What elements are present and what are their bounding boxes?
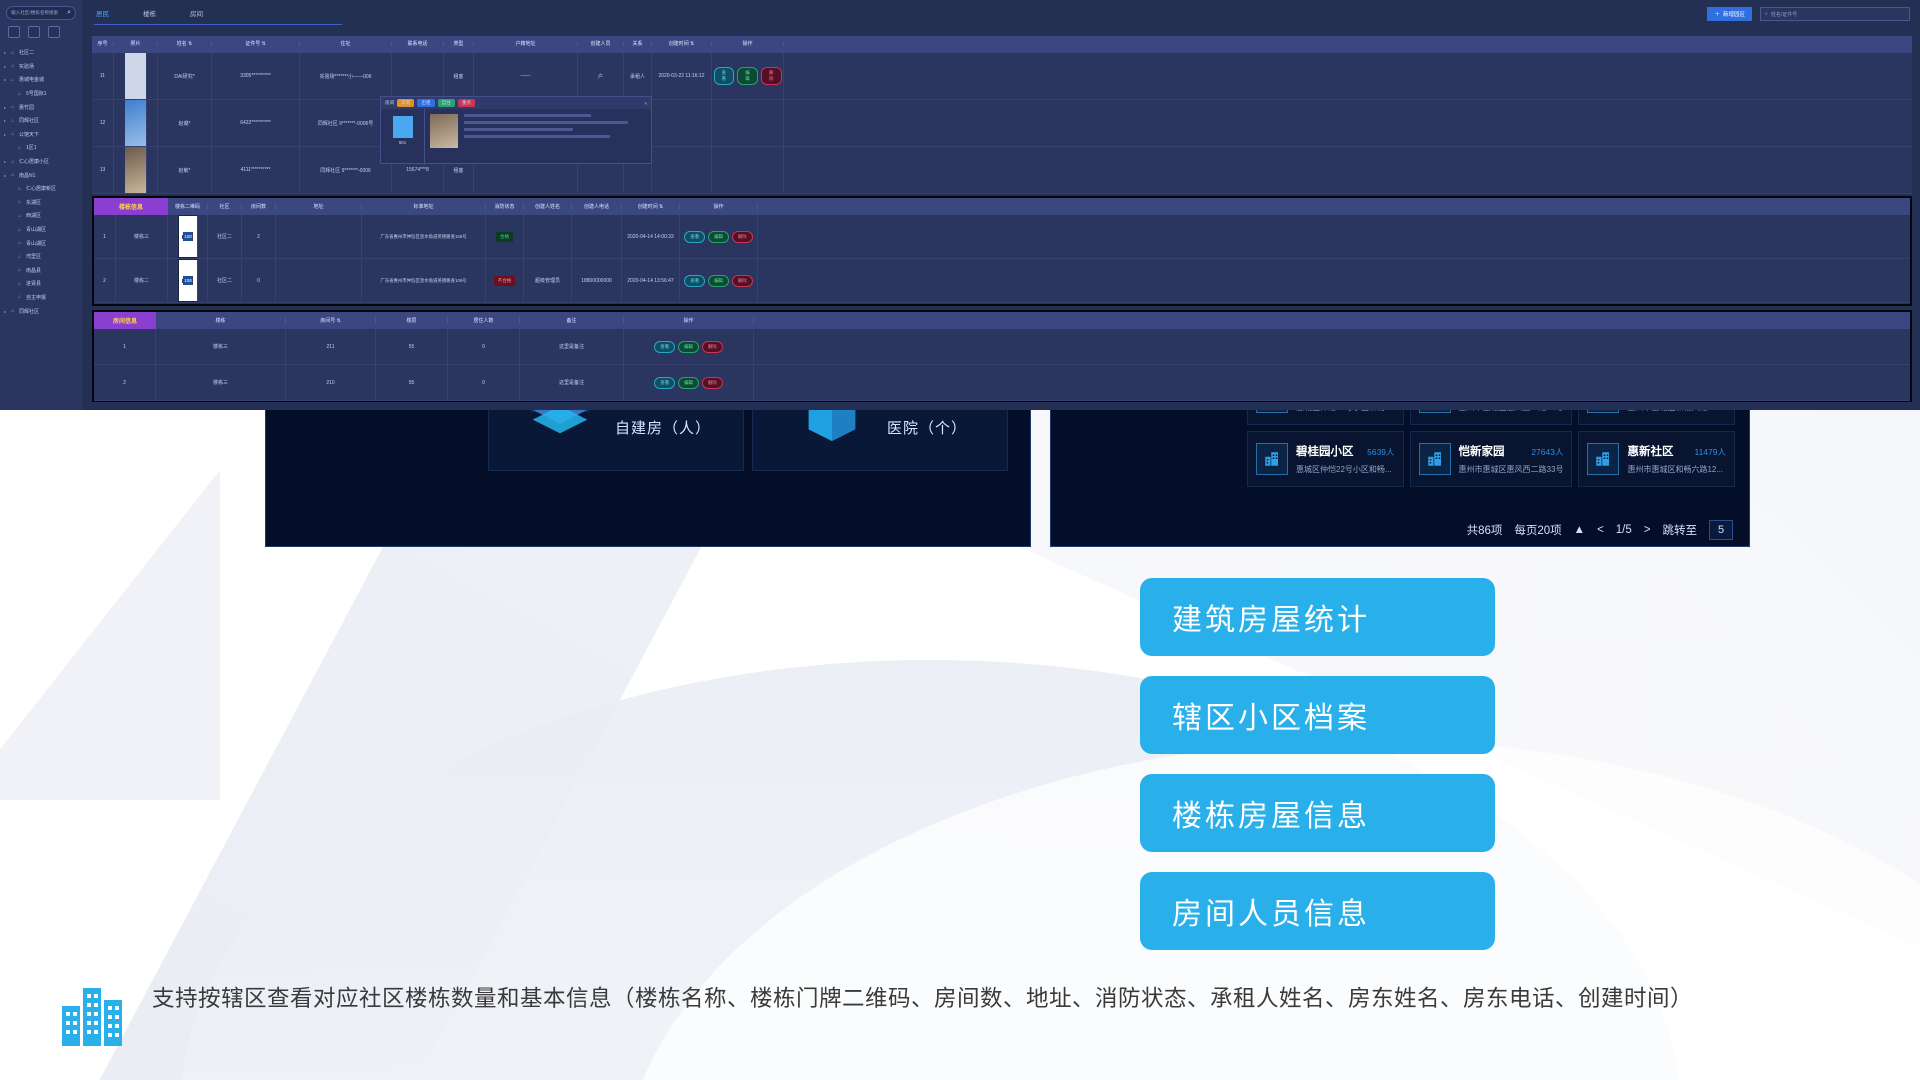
shot-tree-node[interactable]: ⌂湾里区 — [4, 250, 82, 264]
building-table-header: 楼栋信息楼栋二维码社区房间数地址标准地址消防状态创建人姓名创建人电话创建时间 ⇅… — [94, 198, 1910, 215]
people-col-header: 创建人员 — [578, 42, 624, 47]
building-icon — [1263, 450, 1281, 468]
building-col-header: 标准地址 — [362, 203, 486, 210]
community-address: 惠州市惠城区和畅六路12... — [1627, 464, 1726, 475]
community-icon: ⌂ — [18, 186, 26, 192]
table-cell: —— — [474, 53, 578, 99]
popup-person-fields — [464, 114, 646, 160]
popup-close-icon[interactable]: × — [644, 101, 647, 106]
shot-sidebar: 输入社区/楼栋名称搜索 ⌕ ▸⌂社区二▸⌂实验场▸⌂惠城电金城⌂5号国际1▸⌂惠… — [0, 0, 82, 410]
shot-tree-node[interactable]: ▸⌂社区二 — [4, 46, 82, 60]
table-cell: 同辉社区 9*******-0006号 — [300, 100, 392, 146]
community-icon: ⌂ — [18, 267, 26, 273]
people-col-header: 序号 — [92, 42, 114, 47]
shot-tree-node[interactable]: ▸⌂公馆天下 — [4, 128, 82, 142]
building-table-body: 1楼栋三108社区二2广东省惠州市仲恺区沥水角道英德路查109号合格2020-0… — [94, 215, 1910, 303]
table-cell — [712, 147, 784, 193]
footer-text: 支持按辖区查看对应社区楼栋数量和基本信息（楼栋名称、楼栋门牌二维码、房间数、地址… — [152, 980, 1693, 1046]
people-col-header: 操作 — [712, 42, 784, 47]
table-cell: 租客 — [444, 53, 474, 99]
shot-tree-label: 青山湖区 — [26, 226, 46, 233]
community-icon: ⌂ — [18, 145, 26, 151]
search-icon: ⌕ — [67, 9, 71, 17]
community-icon: ⌂ — [18, 294, 26, 300]
shot-tree-label: 仁心居康小区 — [19, 158, 49, 165]
room-col-header: 房间号 ⇅ — [286, 317, 376, 324]
table-cell: 承租人 — [624, 53, 652, 99]
community-population: 27643人 — [1531, 446, 1563, 458]
table-row[interactable]: 13赵敏*4111**********同辉社区 9*******-0006156… — [92, 147, 1912, 194]
room-col-header: 操作 — [624, 317, 754, 324]
table-row[interactable]: 11DAI研究*3305**********实验场*******小——006租客… — [92, 53, 1912, 100]
shot-tree-label: 进贤县 — [26, 280, 41, 287]
shot-tree-node[interactable]: ⌂青山湖区 — [4, 236, 82, 250]
chevron-right-icon[interactable]: ▸ — [4, 309, 11, 314]
shot-tree-node[interactable]: ⌂5号国际1 — [4, 87, 82, 101]
chevron-right-icon[interactable]: ▸ — [4, 50, 11, 55]
shot-tree-label: 同辉社区 — [19, 117, 39, 124]
shot-tree-node[interactable]: ⌂东湖区 — [4, 196, 82, 210]
action-查看[interactable]: 查看 — [654, 377, 675, 389]
person-photo — [125, 100, 147, 146]
shot-tree-node[interactable]: ⌂进贤县 — [4, 277, 82, 291]
shot-tree-node[interactable]: ▸⌂同辉社区 — [4, 114, 82, 128]
action-编辑[interactable]: 编辑 — [708, 275, 729, 287]
sidebar-search-placeholder: 输入社区/楼栋名称搜索 — [11, 10, 58, 16]
chip-1: 出租 — [417, 99, 434, 107]
community-icon: ⌂ — [18, 199, 26, 205]
slide-page: 整体解决方案 一标四实 -- 实有房屋 中亿智云 ZHONGYIZHIYUN 一… — [0, 0, 1920, 1080]
community-icon: ⌂ — [11, 172, 19, 178]
table-cell: 合格 — [486, 215, 524, 258]
shot-tree-label: 实验场 — [19, 63, 34, 70]
table-cell: 55 — [376, 365, 448, 400]
feature-button-building-stats[interactable]: 建筑房屋统计 — [1140, 578, 1495, 656]
table-cell: 12 — [92, 100, 114, 146]
community-population: 11479人 — [1694, 446, 1726, 458]
table-cell: 6422********** — [212, 100, 300, 146]
table-cell: 0 — [448, 329, 520, 364]
shot-tree-label: 仁心居康新区 — [26, 185, 56, 192]
action-查看[interactable]: 查看 — [684, 275, 705, 287]
table-cell — [276, 259, 362, 302]
room-col-header: 楼层 — [376, 317, 448, 324]
pager-size[interactable]: 每页20项 — [1514, 522, 1561, 538]
building-icon — [1426, 450, 1444, 468]
people-col-header: 类型 — [444, 42, 474, 47]
shot-tab-房间[interactable]: 房间 — [190, 8, 203, 18]
feature-button-community-archive[interactable]: 辖区小区档案 — [1140, 676, 1495, 754]
people-col-header: 照片 — [114, 42, 158, 47]
chevron-right-icon[interactable]: ▸ — [4, 132, 11, 137]
popup-header: 房间 实有 出租 自住 重点 × — [381, 97, 651, 109]
table-cell: 4111********** — [212, 147, 300, 193]
add-park-button[interactable]: ＋ 新增园区 — [1707, 7, 1752, 21]
people-col-header: 创建时间 ⇅ — [652, 42, 712, 47]
footer-note: 支持按辖区查看对应社区楼栋数量和基本信息（楼栋名称、楼栋门牌二维码、房间数、地址… — [60, 980, 1860, 1046]
community-icon-box — [1419, 443, 1451, 475]
table-row[interactable]: 2楼栋三210550这里是备注查看编辑删除 — [94, 365, 1910, 401]
table-cell: 查看编辑删除 — [712, 53, 784, 99]
community-address: 惠城区仲恺22号小区和畅... — [1296, 464, 1395, 475]
people-col-header: 证件号 ⇅ — [212, 42, 300, 47]
building-col-header: 房间数 — [242, 203, 276, 210]
shot-search-placeholder: 姓名/证件号 — [1771, 11, 1797, 18]
table-cell: 户 — [578, 53, 624, 99]
person-photo — [125, 147, 147, 193]
room-table-header: 房间信息楼栋房间号 ⇅楼层居住人数备注操作 — [94, 312, 1910, 329]
chip-0: 实有 — [397, 99, 414, 107]
fire-status-badge: 合格 — [496, 232, 513, 242]
table-cell: 0 — [242, 259, 276, 302]
chevron-right-icon[interactable]: ▸ — [4, 105, 11, 110]
table-cell: 超级管理员 — [524, 259, 572, 302]
table-cell: 同辉社区 9*******-0006 — [300, 147, 392, 193]
table-cell: 楼栋三 — [116, 215, 168, 258]
building-col-header: 地址 — [276, 203, 362, 210]
pager-current: 1/5 — [1616, 524, 1632, 536]
community-icon-box — [1256, 443, 1288, 475]
community-icon: ⌂ — [11, 118, 19, 124]
table-cell: 210 — [286, 365, 376, 400]
table-cell: 3305********** — [212, 53, 300, 99]
table-cell: DAI研究* — [158, 53, 212, 99]
table-cell: 实验场*******小——006 — [300, 53, 392, 99]
community-population: 5639人 — [1367, 446, 1394, 458]
building-col-header: 楼栋二维码 — [168, 203, 208, 210]
popup-title: 房间 — [385, 100, 394, 106]
table-cell: 不合格 — [486, 259, 524, 302]
community-card[interactable]: 恺新家园27643人惠州市惠城区惠风西二路33号 — [1410, 431, 1573, 487]
table-cell: 1 — [94, 329, 156, 364]
sidebar-search-input[interactable]: 输入社区/楼栋名称搜索 ⌕ — [6, 6, 76, 20]
action-查看[interactable]: 查看 — [714, 67, 735, 85]
room-info-section: 房间信息楼栋房间号 ⇅楼层居住人数备注操作 1楼栋三211550这里是备注查看编… — [92, 310, 1912, 402]
people-table-header: 序号照片姓名 ⇅证件号 ⇅住址联系电话类型户籍地址创建人员关系创建时间 ⇅操作 — [92, 36, 1912, 53]
shot-tree-label: 同辉社区 — [19, 308, 39, 315]
chevron-right-icon[interactable]: ▸ — [4, 159, 11, 164]
shot-tree-node[interactable]: ⌂1区1 — [4, 141, 82, 155]
people-table-body: 11DAI研究*3305**********实验场*******小——006租客… — [92, 53, 1912, 194]
shot-tree-node[interactable]: ▸⌂惠城电金城 — [4, 73, 82, 87]
popup-person-photo — [430, 114, 458, 148]
community-icon: ⌂ — [18, 213, 26, 219]
action-编辑[interactable]: 编辑 — [737, 67, 758, 85]
table-cell: 这里是备注 — [520, 329, 624, 364]
popup-room-no: 501 — [385, 140, 420, 145]
table-cell: 211 — [286, 329, 376, 364]
search-icon: ⌕ — [1765, 11, 1768, 17]
qr-code-icon: 108 — [178, 259, 198, 302]
community-icon: ⌂ — [18, 240, 26, 246]
window-resident-management: 输入社区/楼栋名称搜索 ⌕ ▸⌂社区二▸⌂实验场▸⌂惠城电金城⌂5号国际1▸⌂惠… — [0, 0, 766, 410]
shot-tree-node[interactable]: ⌂西湖区 — [4, 209, 82, 223]
building-col-header: 操作 — [680, 203, 758, 210]
building-col-header: 社区 — [208, 203, 242, 210]
table-cell: 108 — [168, 259, 208, 302]
table-cell: 广东省惠州市仲恺区沥水角道英德路查109号 — [362, 215, 486, 258]
add-park-label: 新增园区 — [1723, 10, 1745, 18]
community-card[interactable]: 惠新社区11479人惠州市惠城区和畅六路12... — [1578, 431, 1735, 487]
table-cell — [652, 147, 712, 193]
table-cell: 查看编辑删除 — [624, 365, 754, 400]
table-cell: 13 — [92, 147, 114, 193]
table-cell — [276, 215, 362, 258]
table-cell — [712, 100, 784, 146]
room-col-header: 居住人数 — [448, 317, 520, 324]
shot-tree-label: 5号国际1 — [26, 90, 47, 97]
shot-tab-居民[interactable]: 居民 — [96, 8, 109, 18]
table-cell: 108 — [168, 215, 208, 258]
table-cell — [652, 100, 712, 146]
qr-code-icon: 108 — [178, 215, 198, 258]
shot-tree-node[interactable]: ⌂自主申报 — [4, 291, 82, 305]
shot-tree-label: 南昌N1 — [19, 172, 35, 179]
people-col-header: 姓名 ⇅ — [158, 42, 212, 47]
people-col-header: 联系电话 — [392, 42, 444, 47]
shot-tree-node[interactable]: ▸⌂南昌N1 — [4, 168, 82, 182]
shot-tree-label: 青山湖区 — [26, 240, 46, 247]
shot-toolbar: ＋ 新增园区 ⌕ 姓名/证件号 — [1707, 7, 1910, 21]
shot-tab-bar[interactable]: 居民楼栋房间 — [96, 8, 203, 18]
community-icon-box — [1587, 443, 1619, 475]
table-cell: 楼栋二 — [116, 259, 168, 302]
stat-label: 自建房（人） — [615, 417, 711, 438]
community-name: 恺新家园 — [1459, 443, 1505, 459]
shot-tree-node[interactable]: ▸⌂实验场 — [4, 60, 82, 74]
pager-total: 共86项 — [1467, 522, 1503, 538]
table-cell: 2 — [242, 215, 276, 258]
shot-tree-node[interactable]: ▸⌂同辉社区 — [4, 304, 82, 318]
table-cell: 社区二 — [208, 215, 242, 258]
shot-tree-node[interactable]: ⌂青山湖区 — [4, 223, 82, 237]
shot-tree-label: 自主申报 — [26, 294, 46, 301]
chevron-right-icon[interactable]: ▸ — [4, 118, 11, 123]
delete-icon[interactable] — [48, 26, 60, 38]
action-删除[interactable]: 删除 — [732, 231, 753, 243]
shot-main: 居民楼栋房间 ＋ 新增园区 ⌕ 姓名/证件号 序号照片姓名 ⇅证件号 ⇅住址联系… — [82, 0, 1920, 410]
shot-tree-label: 公馆天下 — [19, 131, 39, 138]
table-cell: 赵璐* — [158, 100, 212, 146]
room-table-body: 1楼栋三211550这里是备注查看编辑删除2楼栋三210550这里是备注查看编辑… — [94, 329, 1910, 401]
community-icon: ⌂ — [18, 254, 26, 260]
shot-tree-label: 惠竹园 — [19, 104, 34, 111]
chevron-right-icon[interactable]: ▸ — [4, 77, 11, 82]
sidebar-tool-icons[interactable] — [8, 26, 60, 38]
community-icon: ⌂ — [18, 227, 26, 233]
community-icon: ⌂ — [11, 104, 19, 110]
table-cell: 2020-04-14 14:00:33 — [622, 215, 680, 258]
action-查看[interactable]: 查看 — [654, 341, 675, 353]
chip-3: 重点 — [458, 99, 475, 107]
shot-tree-label: 南昌县 — [26, 267, 41, 274]
community-address: 惠州市惠城区惠风西二路33号 — [1459, 464, 1564, 475]
table-cell: 55 — [376, 329, 448, 364]
community-icon: ⌂ — [11, 63, 19, 69]
shot-tab-楼栋[interactable]: 楼栋 — [143, 8, 156, 18]
people-col-header: 住址 — [300, 42, 392, 47]
table-row[interactable]: 2楼栋二108社区二0广东省惠州市仲恺区沥水角道英德路查109号不合格超级管理员… — [94, 259, 1910, 303]
table-cell: 18800000000 — [572, 259, 622, 302]
chip-2: 自住 — [438, 99, 455, 107]
shot-tree-node[interactable]: ⌂仁心居康新区 — [4, 182, 82, 196]
community-icon: ⌂ — [11, 50, 19, 56]
pager-next[interactable]: > — [1644, 524, 1651, 536]
community-name: 碧桂园小区 — [1296, 443, 1354, 459]
action-编辑[interactable]: 编辑 — [708, 231, 729, 243]
community-name: 惠新社区 — [1627, 443, 1673, 459]
popup-room-column: 501 — [381, 109, 425, 165]
table-cell: 2 — [94, 259, 116, 302]
table-cell: 查看编辑删除 — [680, 215, 758, 258]
community-icon: ⌂ — [18, 281, 26, 287]
shot-tree-label: 西湖区 — [26, 212, 41, 219]
pagination: 共86项 每页20项 ▲ < 1/5 > 跳转至 5 — [1467, 520, 1733, 540]
table-cell: 楼栋三 — [156, 365, 286, 400]
action-编辑[interactable]: 编辑 — [678, 341, 699, 353]
community-icon: ⌂ — [11, 159, 19, 165]
shot-search-input[interactable]: ⌕ 姓名/证件号 — [1760, 7, 1910, 21]
table-cell: 楼栋三 — [156, 329, 286, 364]
shot-tree-node[interactable]: ▸⌂惠竹园 — [4, 100, 82, 114]
people-col-header: 户籍地址 — [474, 42, 578, 47]
table-cell: 0 — [448, 365, 520, 400]
room-detail-popup: 房间 实有 出租 自住 重点 × 501 — [380, 96, 652, 164]
pager-jump-input[interactable]: 5 — [1709, 520, 1733, 540]
room-col-header: 备注 — [520, 317, 624, 324]
shot-tree-node[interactable]: ⌂南昌县 — [4, 264, 82, 278]
room-col-header: 楼栋 — [156, 317, 286, 324]
table-cell: 2 — [94, 365, 156, 400]
table-cell — [572, 215, 622, 258]
table-cell — [392, 53, 444, 99]
action-删除[interactable]: 删除 — [702, 341, 723, 353]
shot-tree-label: 东湖区 — [26, 199, 41, 206]
shot-tree-node[interactable]: ▸⌂仁心居康小区 — [4, 155, 82, 169]
edit-icon[interactable] — [28, 26, 40, 38]
community-icon: ⌂ — [18, 91, 26, 97]
action-删除[interactable]: 删除 — [761, 67, 782, 85]
chevron-up-icon[interactable]: ▲ — [1574, 524, 1585, 536]
building-col-header: 创建人姓名 — [524, 203, 572, 210]
table-cell — [114, 53, 158, 99]
chevron-right-icon[interactable]: ▸ — [4, 64, 11, 69]
table-cell: 11 — [92, 53, 114, 99]
building-col-header: 消防状态 — [486, 203, 524, 210]
table-row[interactable]: 12赵璐*6422**********同辉社区 9*******-0006号15… — [92, 100, 1912, 147]
building-icon — [1594, 450, 1612, 468]
popup-room-thumb — [393, 116, 413, 138]
person-photo — [125, 53, 147, 99]
plus-icon: ＋ — [1714, 10, 1720, 18]
shot-tree-label: 1区1 — [26, 144, 37, 151]
building-info-section: 楼栋信息楼栋二维码社区房间数地址标准地址消防状态创建人姓名创建人电话创建时间 ⇅… — [92, 196, 1912, 306]
people-table: 序号照片姓名 ⇅证件号 ⇅住址联系电话类型户籍地址创建人员关系创建时间 ⇅操作 … — [92, 36, 1912, 194]
table-row[interactable]: 1楼栋三108社区二2广东省惠州市仲恺区沥水角道英德路查109号合格2020-0… — [94, 215, 1910, 259]
table-cell: 赵敏* — [158, 147, 212, 193]
buildings-icon — [60, 984, 130, 1046]
table-cell: 1 — [94, 215, 116, 258]
room-section-badge: 房间信息 — [94, 312, 156, 329]
community-icon: ⌂ — [11, 308, 19, 314]
pager-prev[interactable]: < — [1597, 524, 1604, 536]
action-查看[interactable]: 查看 — [684, 231, 705, 243]
shot-tree-label: 惠城电金城 — [19, 76, 44, 83]
feature-button-room-people[interactable]: 房间人员信息 — [1140, 872, 1495, 950]
community-icon: ⌂ — [11, 77, 19, 83]
community-card[interactable]: 碧桂园小区5639人惠城区仲恺22号小区和畅... — [1247, 431, 1404, 487]
table-cell — [114, 100, 158, 146]
community-icon: ⌂ — [11, 131, 19, 137]
shot-tree-label: 社区二 — [19, 49, 34, 56]
building-col-header: 创建时间 ⇅ — [622, 203, 680, 210]
table-cell — [114, 147, 158, 193]
table-cell — [524, 215, 572, 258]
fire-status-badge: 不合格 — [494, 276, 516, 286]
pager-jump-label: 跳转至 — [1663, 522, 1698, 538]
table-cell: 查看编辑删除 — [624, 329, 754, 364]
shot-tree-label: 湾里区 — [26, 253, 41, 260]
export-icon[interactable] — [8, 26, 20, 38]
table-row[interactable]: 1楼栋三211550这里是备注查看编辑删除 — [94, 329, 1910, 365]
table-cell: 这里是备注 — [520, 365, 624, 400]
people-col-header: 关系 — [624, 42, 652, 47]
table-cell: 广东省惠州市仲恺区沥水角道英德路查109号 — [362, 259, 486, 302]
action-编辑[interactable]: 编辑 — [678, 377, 699, 389]
shot-community-tree[interactable]: ▸⌂社区二▸⌂实验场▸⌂惠城电金城⌂5号国际1▸⌂惠竹园▸⌂同辉社区▸⌂公馆天下… — [4, 46, 82, 318]
building-col-header: 创建人电话 — [572, 203, 622, 210]
building-section-badge: 楼栋信息 — [94, 198, 168, 215]
feature-button-building-info[interactable]: 楼栋房屋信息 — [1140, 774, 1495, 852]
action-删除[interactable]: 删除 — [732, 275, 753, 287]
stat-label: 医院（个） — [887, 417, 967, 438]
table-cell: 2020-04-14 13:56:47 — [622, 259, 680, 302]
table-cell: 查看编辑删除 — [680, 259, 758, 302]
table-cell: 社区二 — [208, 259, 242, 302]
table-cell: 2020-03-22 11:16:12 — [652, 53, 712, 99]
chevron-right-icon[interactable]: ▸ — [4, 173, 11, 178]
action-删除[interactable]: 删除 — [702, 377, 723, 389]
